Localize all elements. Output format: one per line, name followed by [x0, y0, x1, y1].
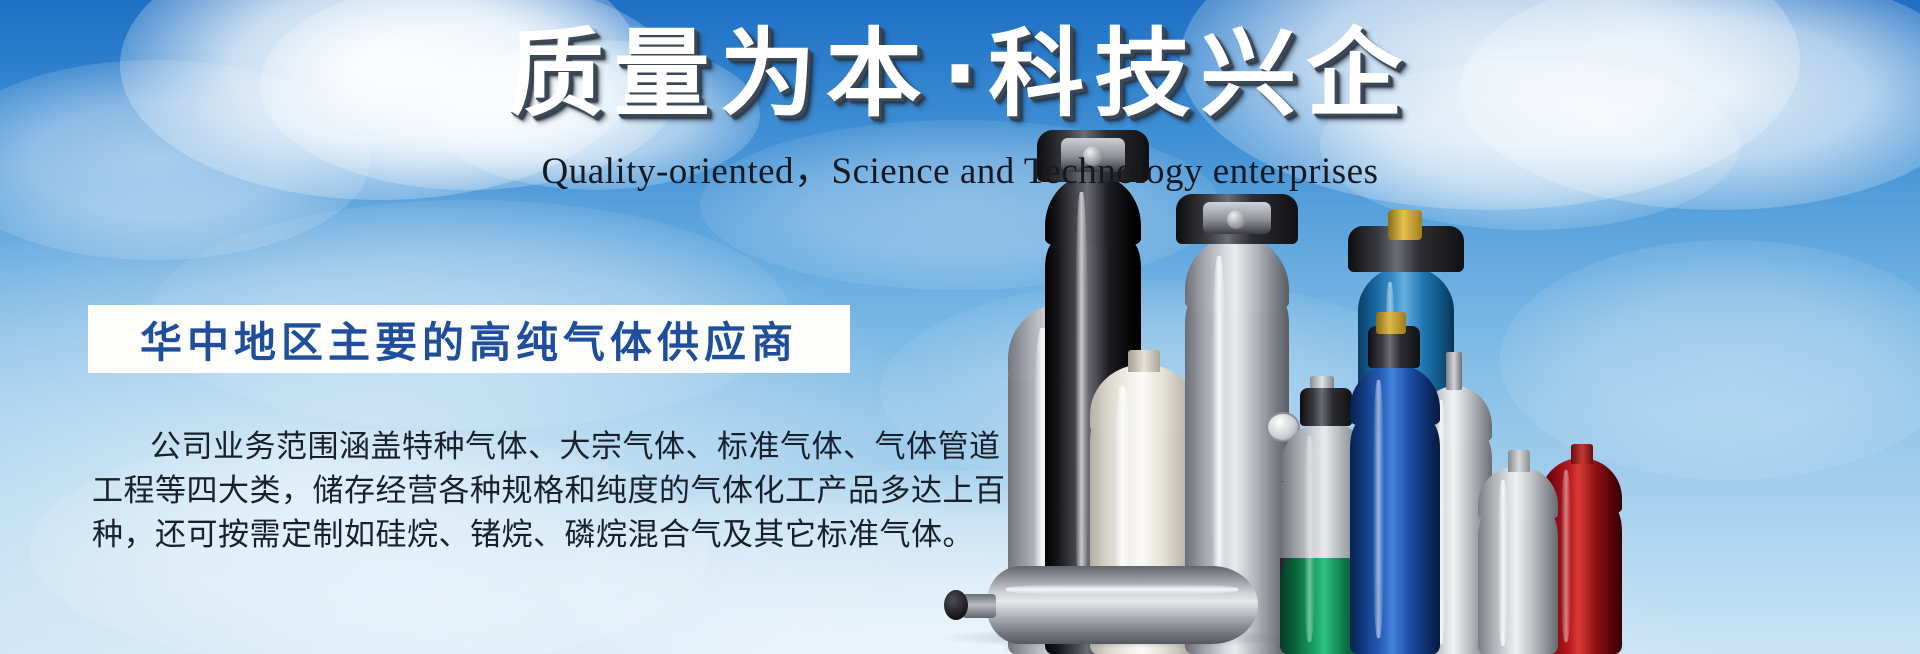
- cylinder-blue-royal: [1350, 364, 1440, 654]
- paragraph-line: 种，还可按需定制如硅烷、锗烷、磷烷混合气及其它标准气体。: [92, 513, 862, 557]
- brass-valve: [1376, 312, 1406, 334]
- promotional-banner: 质量为本·科技兴企 Quality-oriented，Science and T…: [0, 0, 1920, 654]
- description-paragraph: 公司业务范围涵盖特种气体、大宗气体、标准气体、气体管道 工程等四大类，储存经营各…: [92, 425, 862, 557]
- cylinder-body: [1478, 512, 1558, 654]
- headline-left-text: 质量为本: [508, 18, 932, 130]
- cylinder-valve-cap: [1300, 388, 1352, 426]
- cylinder-neck: [1571, 444, 1593, 464]
- headline-separator-dot: ·: [932, 18, 988, 130]
- highlight-box-text: 华中地区主要的高纯气体供应商: [140, 309, 798, 370]
- cylinder-valve: [1446, 352, 1462, 390]
- horizontal-cylinder-body: [986, 566, 1258, 644]
- cylinder-aluminium-short: [1478, 466, 1558, 654]
- cylinder-neck: [1128, 350, 1160, 372]
- cylinder-shoulder: [1358, 266, 1454, 328]
- paragraph-line: 公司业务范围涵盖特种气体、大宗气体、标准气体、气体管道: [92, 425, 862, 469]
- cylinder-shoulder: [1185, 236, 1289, 310]
- paragraph-line: 工程等四大类，储存经营各种规格和纯度的气体化工产品多达上百: [92, 469, 862, 513]
- subtitle: Quality-oriented，Science and Technology …: [0, 140, 1920, 194]
- cylinder-shoulder: [1350, 364, 1440, 426]
- headline-right-text: 科技兴企: [988, 18, 1412, 130]
- page-title: 质量为本·科技兴企: [0, 24, 1920, 125]
- cylinder-grey-horizontal: [960, 566, 1278, 644]
- cylinder-shoulder: [1090, 364, 1198, 434]
- horizontal-cylinder-valve: [944, 590, 968, 620]
- cylinder-body: [1350, 422, 1440, 654]
- cylinder-neck: [1508, 450, 1530, 472]
- highlight-box: 华中地区主要的高纯气体供应商: [88, 305, 850, 373]
- cylinder-shoulder: [1478, 466, 1558, 520]
- brass-valve: [1388, 210, 1422, 240]
- cylinder-knob: [1227, 210, 1246, 229]
